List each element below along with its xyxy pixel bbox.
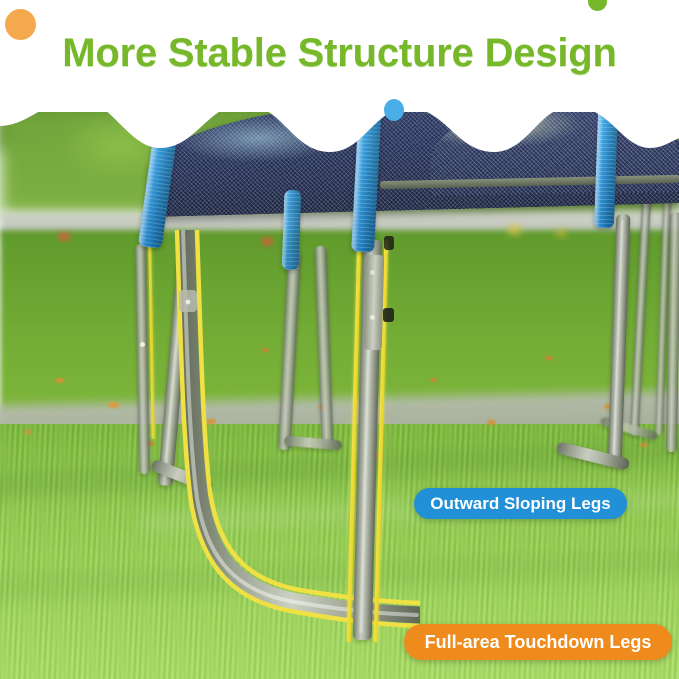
leg-bracket-sleeve xyxy=(364,255,384,350)
leg-bolt xyxy=(140,342,145,347)
page-title: More Stable Structure Design xyxy=(0,31,679,76)
leg-clamp xyxy=(383,308,394,322)
product-feature-image: More Stable Structure Design Outward Slo… xyxy=(0,0,679,679)
full-area-touchdown-legs-badge[interactable]: Full-area Touchdown Legs xyxy=(404,624,672,660)
orange-dot-icon xyxy=(5,9,36,40)
outward-sloping-legs-badge[interactable]: Outward Sloping Legs xyxy=(414,488,627,519)
pole-sleeve-blue xyxy=(594,108,618,229)
pole-sleeve-blue xyxy=(282,190,302,271)
leg-clamp xyxy=(384,236,394,250)
trampoline-leg-far xyxy=(630,196,652,436)
blue-dot-icon xyxy=(384,99,404,121)
leg-bolt xyxy=(370,270,375,275)
leg-bolt xyxy=(370,315,375,320)
